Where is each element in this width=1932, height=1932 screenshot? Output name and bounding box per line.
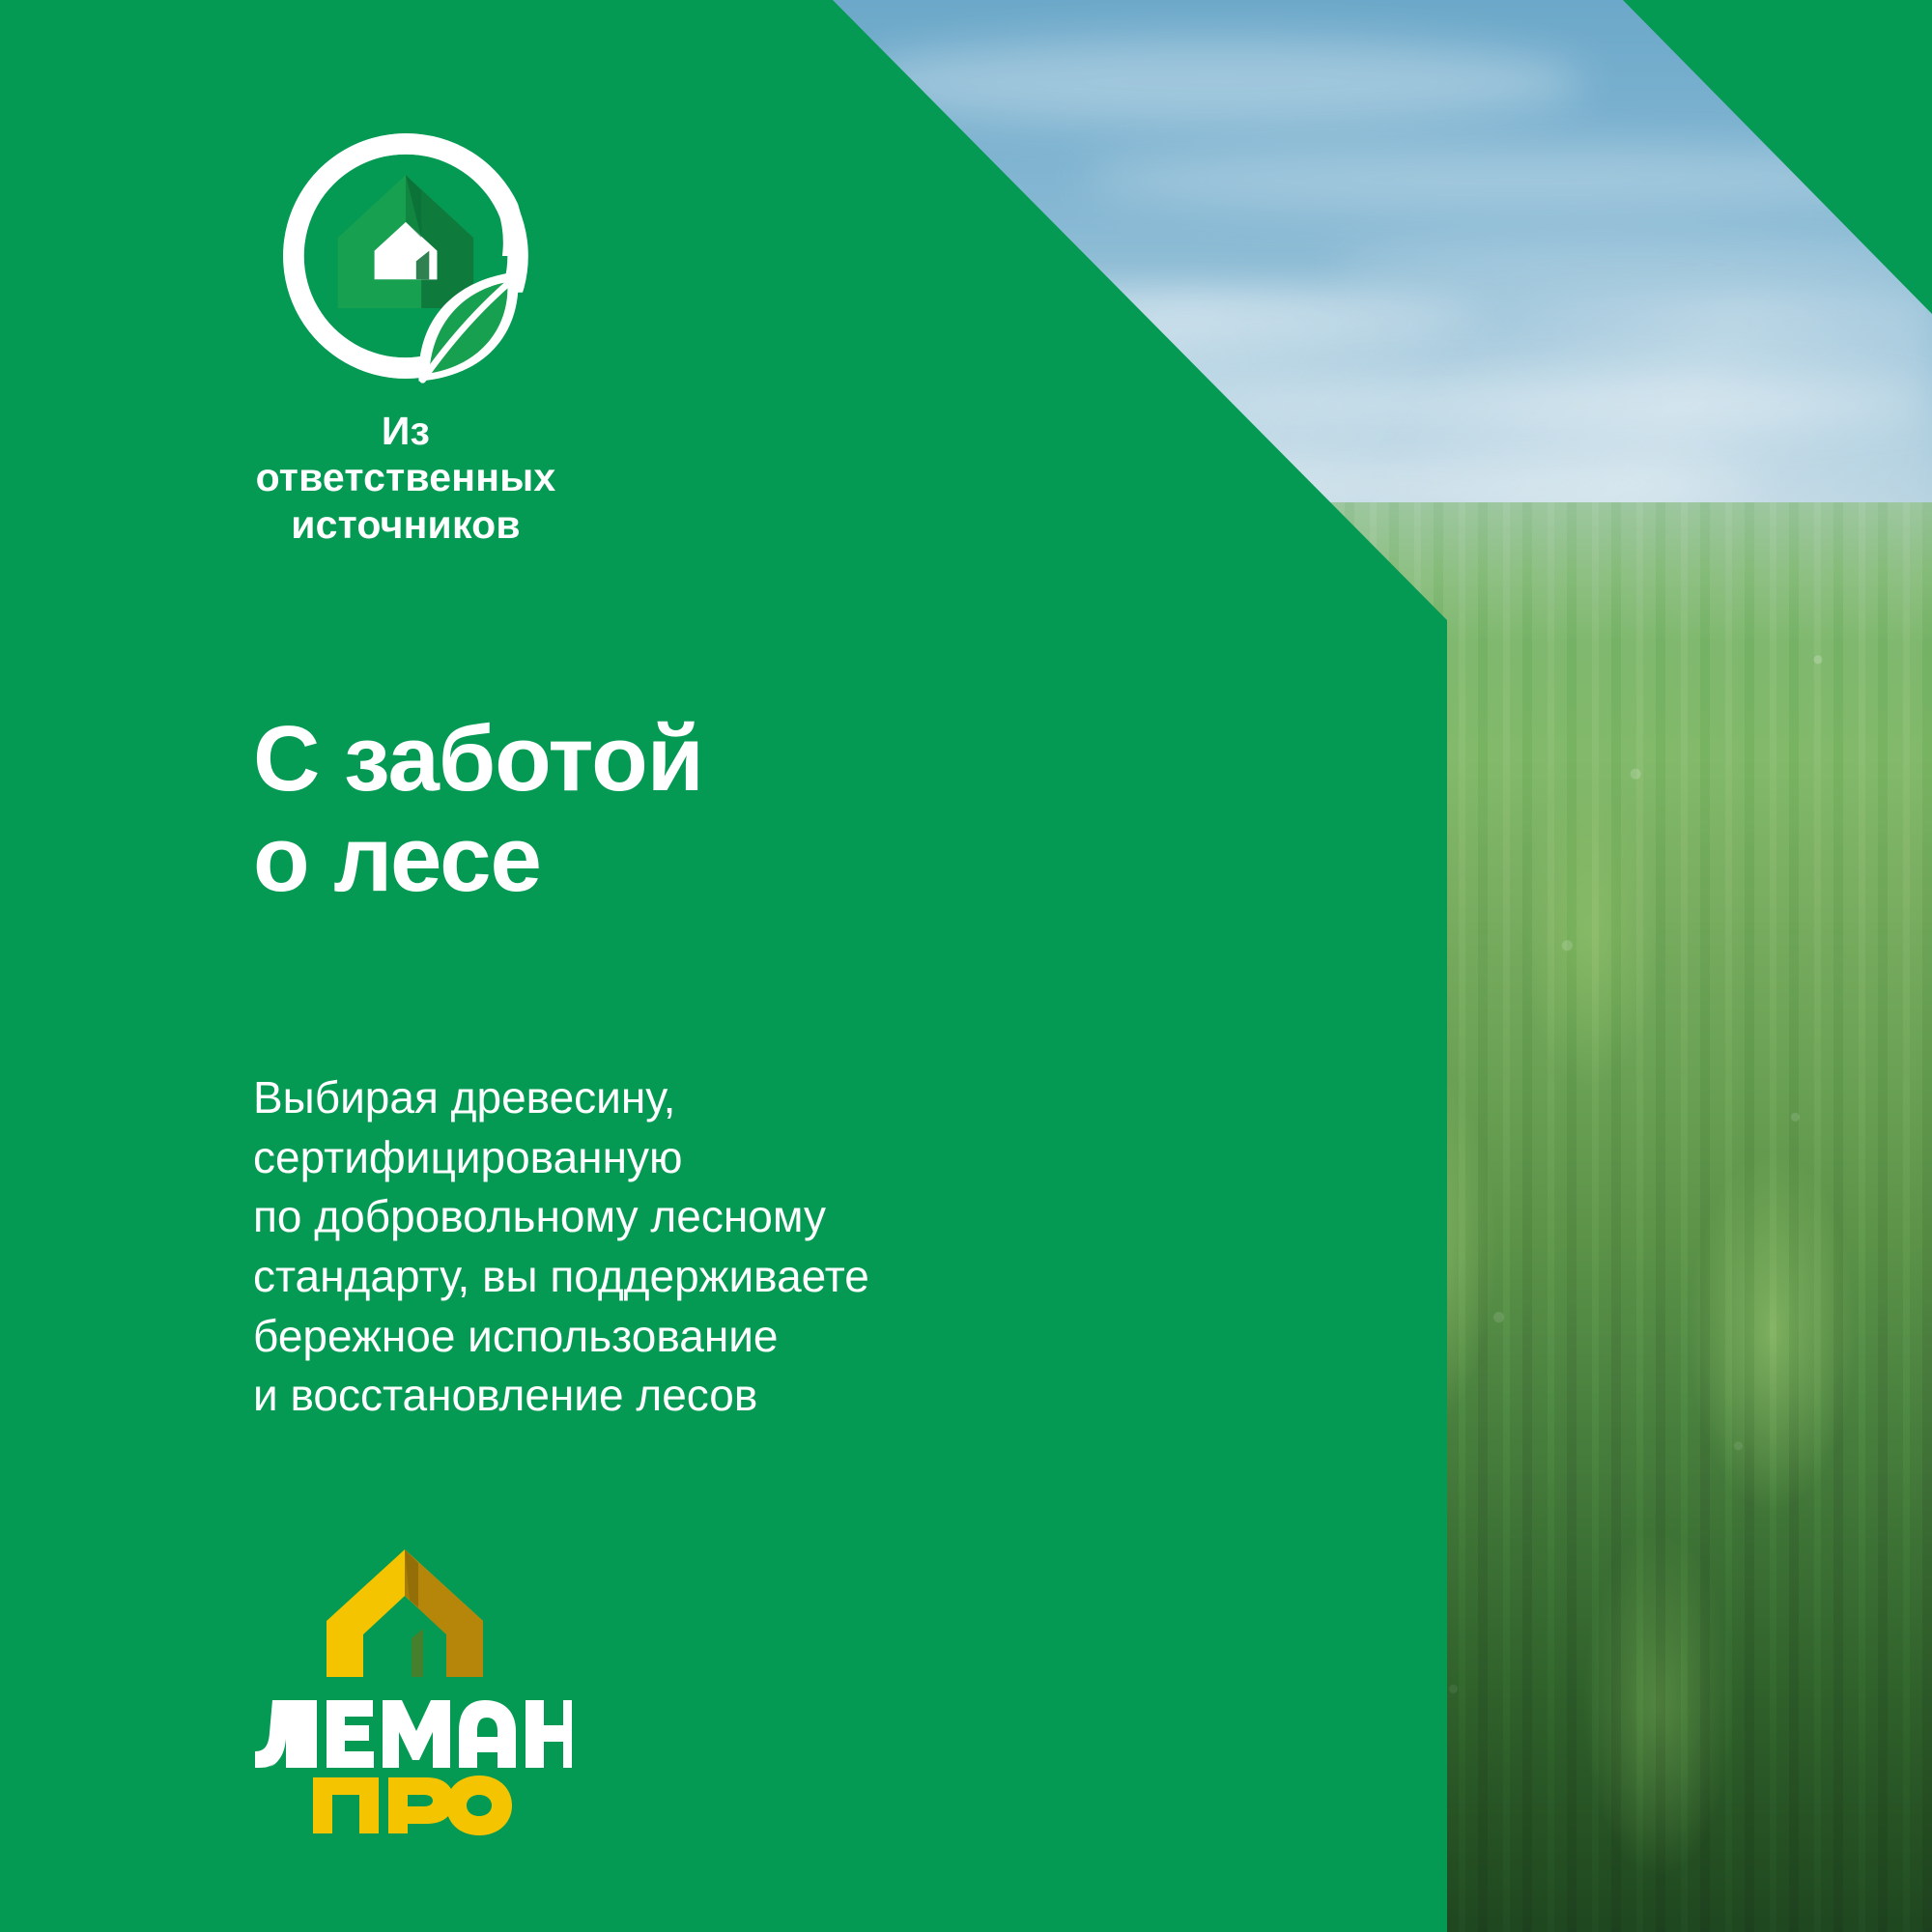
eco-badge-caption: Из ответственныхисточников — [246, 408, 565, 548]
eco-caption-line-1: Из ответственных — [256, 409, 556, 499]
lemana-house-icon — [323, 1546, 487, 1681]
lemana-wordmark — [253, 1696, 572, 1768]
eco-caption-line-2: источников — [291, 502, 521, 547]
house-leaf-circle-eco-mark — [275, 126, 536, 386]
lemana-pro-logo — [253, 1546, 601, 1835]
eco-certification-badge: Из ответственныхисточников — [246, 126, 652, 548]
pro-wordmark — [309, 1776, 512, 1835]
poster-root: Из ответственныхисточников С заботой о л… — [0, 0, 1932, 1932]
page-title: С заботой о лесе — [253, 709, 703, 909]
body-paragraph: Выбирая древесину, сертифицированную по … — [253, 1068, 869, 1426]
